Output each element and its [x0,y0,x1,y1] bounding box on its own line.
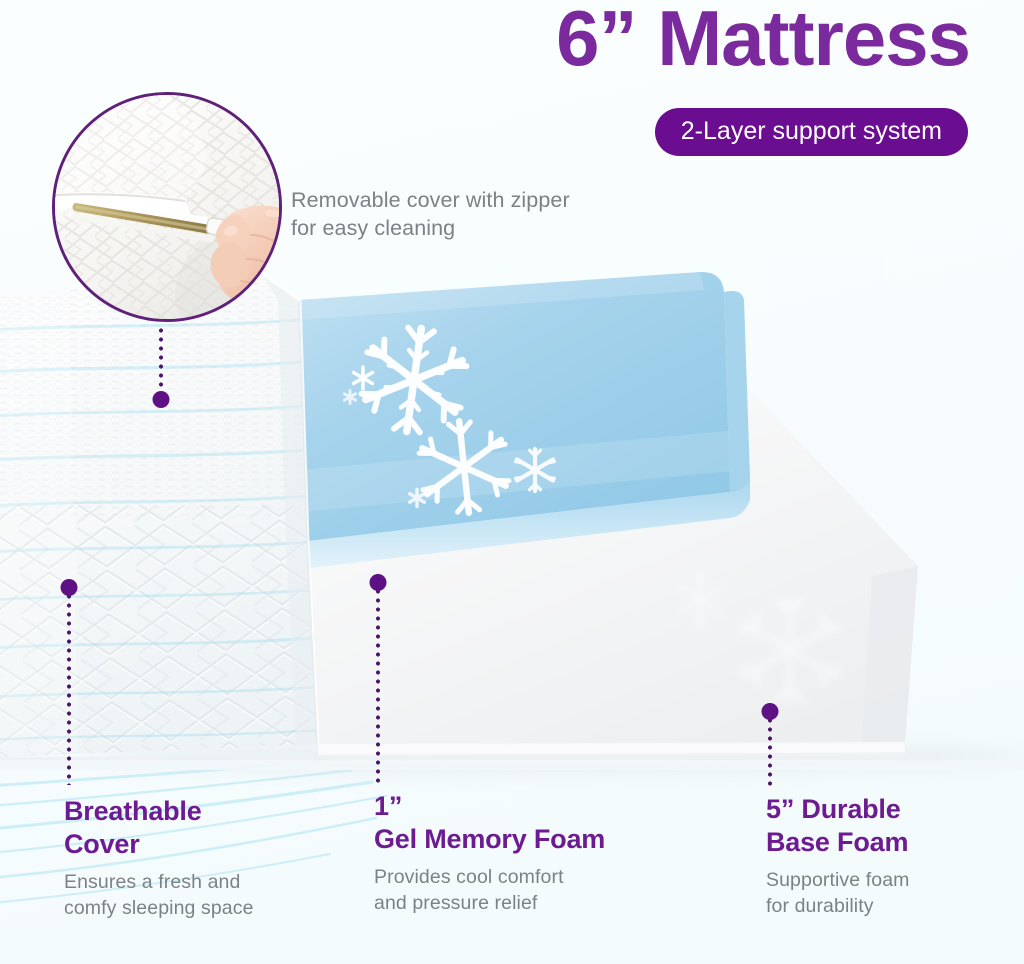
zipper-callout-line1: Removable cover with zipper [291,186,570,214]
leader-line [376,578,380,784]
feature-subtext-line2: comfy sleeping space [64,896,254,922]
infographic-root: 6” Mattress 2-Layer support system [0,0,1024,964]
breathable-cover-layer [0,270,340,770]
feature-gel-memory-foam: 1” Gel Memory Foam Provides cool comfort… [374,790,605,917]
feature-subtext-line1: Ensures a fresh and [64,870,254,896]
feature-subtext: Provides cool comfort and pressure relie… [374,865,605,917]
zipper-callout-line2: for easy cleaning [291,214,570,242]
hand-pulling-zipper-icon [55,95,279,319]
feature-heading-line2: Gel Memory Foam [374,823,605,856]
leader-breathable-cover [60,583,77,785]
leader-dot [761,703,778,720]
feature-heading-line2: Base Foam [766,826,910,859]
page-title: 6” Mattress [556,0,970,80]
leader-zipper [152,326,169,404]
leader-base-foam [761,707,778,787]
leader-dot [60,579,77,596]
leader-dot [369,574,386,591]
leader-line [67,583,71,785]
feature-breathable-cover: Breathable Cover Ensures a fresh and com… [64,795,254,922]
feature-heading: 5” Durable Base Foam [766,793,910,859]
feature-heading: Breathable Cover [64,795,254,861]
feature-heading-line1: Breathable [64,795,254,828]
leader-dot [152,391,169,408]
feature-heading-line2: Cover [64,828,254,861]
feature-subtext-line1: Provides cool comfort [374,865,605,891]
support-system-badge: 2-Layer support system [655,108,968,156]
feature-subtext: Supportive foam for durability [766,868,910,920]
feature-heading-line1: 5” Durable [766,793,910,826]
feature-subtext: Ensures a fresh and comfy sleeping space [64,870,254,922]
feature-heading-line1: 1” [374,790,605,823]
zipper-callout-text: Removable cover with zipper for easy cle… [291,186,570,243]
zipper-detail-inset [52,92,282,322]
feature-durable-base-foam: 5” Durable Base Foam Supportive foam for… [766,793,910,920]
feature-subtext-line1: Supportive foam [766,868,910,894]
feature-subtext-line2: for durability [766,894,910,920]
feature-heading: 1” Gel Memory Foam [374,790,605,856]
floor-strip [0,760,1024,770]
feature-subtext-line2: and pressure relief [374,891,605,917]
leader-gel-memory-foam [369,578,386,784]
